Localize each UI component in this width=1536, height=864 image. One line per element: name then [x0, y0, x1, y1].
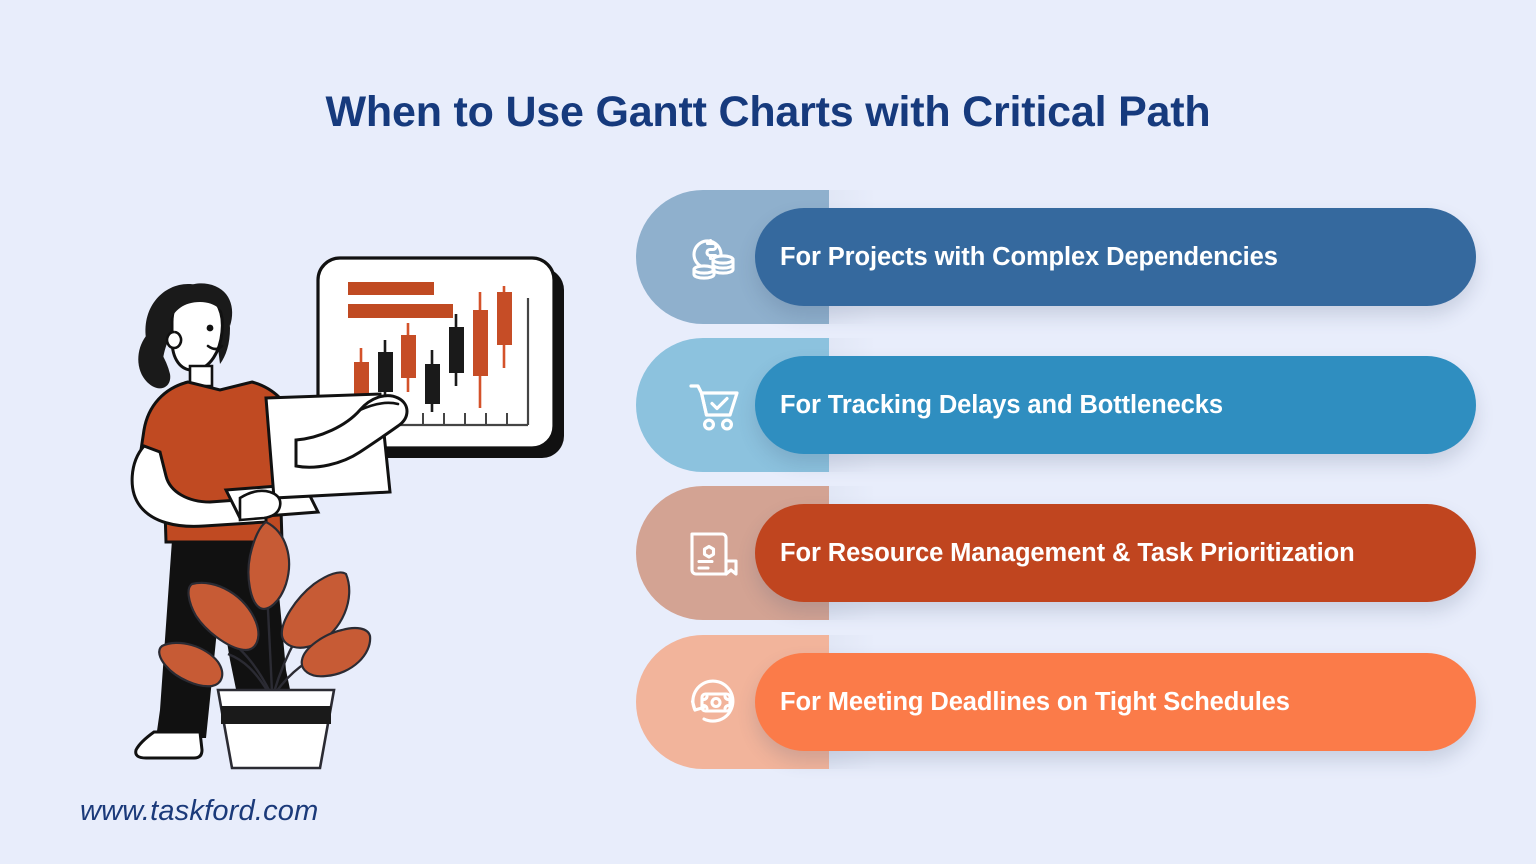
benefit-label-3: For Resource Management & Task Prioritiz…: [780, 539, 1355, 568]
benefit-row-2[interactable]: For Tracking Delays and Bottlenecks: [636, 330, 1476, 480]
certificate-document-icon: [672, 486, 756, 620]
coins-dollar-icon: [672, 190, 756, 324]
benefit-row-1[interactable]: For Projects with Complex Dependencies: [636, 182, 1476, 332]
banknote-refresh-icon: [672, 635, 756, 769]
benefit-row-4[interactable]: For Meeting Deadlines on Tight Schedules: [636, 627, 1476, 777]
benefit-pill-3[interactable]: For Resource Management & Task Prioritiz…: [755, 504, 1476, 602]
benefit-label-1: For Projects with Complex Dependencies: [780, 243, 1278, 272]
benefit-label-4: For Meeting Deadlines on Tight Schedules: [780, 688, 1290, 717]
infographic-canvas: When to Use Gantt Charts with Critical P…: [0, 0, 1536, 864]
benefit-pill-1[interactable]: For Projects with Complex Dependencies: [755, 208, 1476, 306]
benefit-row-3[interactable]: For Resource Management & Task Prioritiz…: [636, 478, 1476, 628]
benefit-pill-2[interactable]: For Tracking Delays and Bottlenecks: [755, 356, 1476, 454]
benefit-label-2: For Tracking Delays and Bottlenecks: [780, 391, 1223, 420]
benefit-rows-list: For Projects with Complex Dependencies F…: [0, 0, 1536, 864]
benefit-pill-4[interactable]: For Meeting Deadlines on Tight Schedules: [755, 653, 1476, 751]
footer-website-url[interactable]: www.taskford.com: [80, 795, 319, 828]
shopping-cart-check-icon: [672, 338, 756, 472]
